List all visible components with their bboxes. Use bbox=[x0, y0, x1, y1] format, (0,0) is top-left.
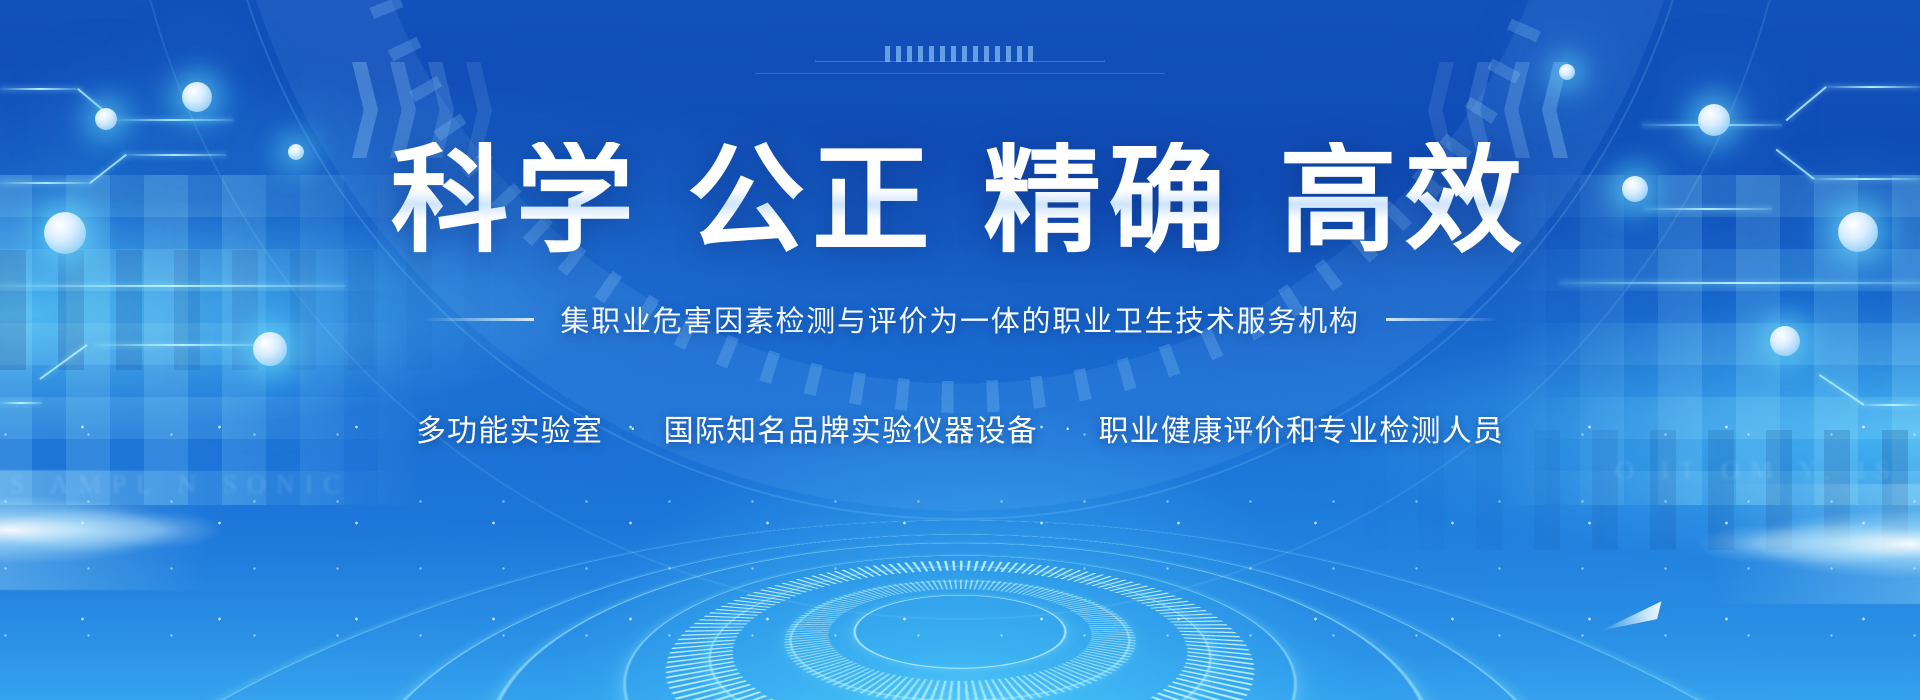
banner-hero: S AMPL N SONIC O IT OM Y. IS 科学公正精确高效 集职… bbox=[0, 0, 1920, 700]
tagline-separator: · bbox=[1064, 415, 1073, 441]
subtitle-rule-right bbox=[1386, 318, 1498, 321]
headline-word-3: 精确 bbox=[983, 142, 1233, 260]
subtitle-rule-left bbox=[422, 318, 534, 321]
tagline-separator: · bbox=[629, 415, 638, 441]
subtitle: 集职业危害因素检测与评价为一体的职业卫生技术服务机构 bbox=[560, 298, 1359, 340]
headline: 科学公正精确高效 bbox=[391, 142, 1530, 260]
banner-content: 科学公正精确高效 集职业危害因素检测与评价为一体的职业卫生技术服务机构 多功能实… bbox=[0, 0, 1920, 700]
tagline-row: 多功能实验室 · 国际知名品牌实验仪器设备 · 职业健康评价和专业检测人员 bbox=[416, 406, 1504, 450]
tagline-1: 多功能实验室 bbox=[416, 406, 603, 450]
tagline-3: 职业健康评价和专业检测人员 bbox=[1099, 406, 1505, 450]
headline-word-4: 高效 bbox=[1279, 142, 1529, 260]
headline-word-2: 公正 bbox=[687, 142, 937, 260]
headline-word-1: 科学 bbox=[391, 142, 641, 260]
subtitle-row: 集职业危害因素检测与评价为一体的职业卫生技术服务机构 bbox=[422, 298, 1497, 340]
tagline-2: 国际知名品牌实验仪器设备 bbox=[664, 406, 1038, 450]
